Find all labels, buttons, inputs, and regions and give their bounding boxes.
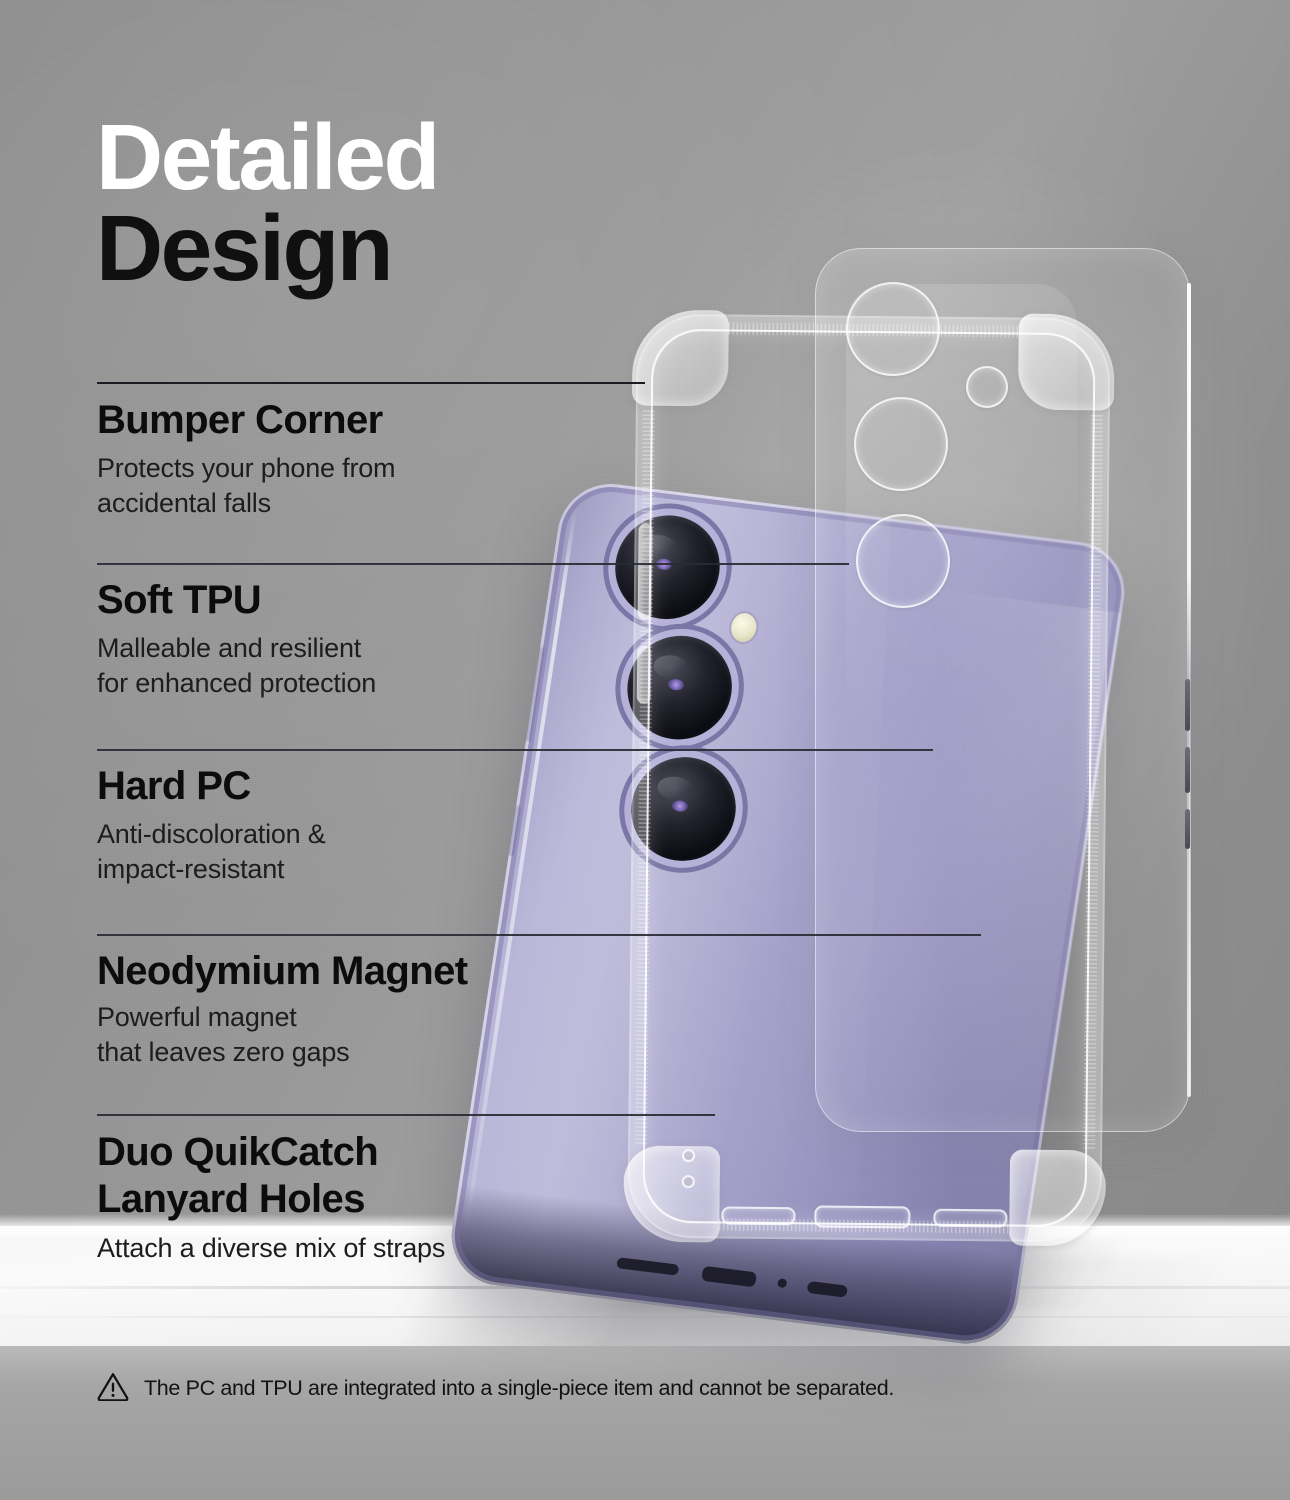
lanyard-hole-left — [682, 1175, 695, 1188]
feature-title: Bumper Corner — [97, 398, 567, 443]
feature-description-line-2: accidental falls — [97, 486, 567, 522]
bumper-corner-top-left — [632, 310, 729, 407]
feature-description-line-1: Protects your phone from — [97, 451, 567, 487]
back-panel-power-button-mark — [1185, 809, 1190, 849]
speaker-cutout-right — [933, 1209, 1007, 1228]
floor-edge-line-lower — [0, 1316, 1290, 1318]
leader-line-lanyard-holes — [97, 1114, 715, 1116]
feature-description-line-2: impact-resistant — [97, 852, 567, 888]
feature-description-line-1: Malleable and resilient — [97, 631, 567, 667]
feature-description-line-2: that leaves zero gaps — [97, 1035, 567, 1071]
back-panel-volume-button-mark-2 — [1185, 747, 1190, 793]
feature-title-line-2: Lanyard Holes — [97, 1176, 567, 1223]
feature-title: Neodymium Magnet — [97, 949, 567, 994]
page-title-line-1: Detailed — [96, 112, 616, 203]
lanyard-hole-right — [682, 1149, 695, 1162]
disclaimer-note: The PC and TPU are integrated into a sin… — [96, 1371, 894, 1406]
feature-neodymium-magnet: Neodymium Magnet Powerful magnet that le… — [97, 949, 567, 1071]
feature-title: Hard PC — [97, 764, 567, 809]
feature-title-line-1: Duo QuikCatch — [97, 1129, 567, 1176]
bumper-power-button-cover — [637, 646, 652, 704]
speaker-cutout-left — [721, 1206, 795, 1225]
bumper-inner-frame — [642, 329, 1095, 1228]
page-title-line-2: Design — [96, 203, 616, 294]
charging-port-cutout — [814, 1205, 910, 1228]
bumper-volume-button-cover — [638, 524, 653, 620]
feature-description-line-1: Anti-discoloration & — [97, 817, 567, 853]
feature-hard-pc: Hard PC Anti-discoloration & impact-resi… — [97, 764, 567, 888]
feature-title: Soft TPU — [97, 578, 567, 623]
feature-description-line-1: Attach a diverse mix of straps — [97, 1231, 617, 1267]
bumper-corner-bottom-left — [623, 1145, 720, 1242]
warning-triangle-icon — [96, 1371, 130, 1406]
floor-lower-gradient — [0, 1346, 1290, 1500]
page-title: Detailed Design — [96, 112, 616, 294]
bumper-corner-top-right — [1018, 314, 1115, 411]
bumper-corner-bottom-right — [1009, 1149, 1106, 1246]
leader-line-neodymium-magnet — [97, 934, 981, 936]
leader-line-soft-tpu — [97, 563, 849, 565]
case-bumper-frame — [629, 316, 1109, 1241]
feature-description-line-1: Powerful magnet — [97, 1000, 567, 1036]
feature-duo-quikcatch-lanyard-holes: Duo QuikCatch Lanyard Holes Attach a div… — [97, 1129, 567, 1267]
feature-soft-tpu: Soft TPU Malleable and resilient for enh… — [97, 578, 567, 702]
feature-bumper-corner: Bumper Corner Protects your phone from a… — [97, 398, 567, 522]
leader-line-bumper-corner — [97, 382, 645, 384]
disclaimer-text: The PC and TPU are integrated into a sin… — [144, 1376, 894, 1401]
back-panel-volume-button-mark — [1185, 679, 1190, 731]
feature-description-line-2: for enhanced protection — [97, 666, 567, 702]
leader-line-hard-pc — [97, 749, 933, 751]
